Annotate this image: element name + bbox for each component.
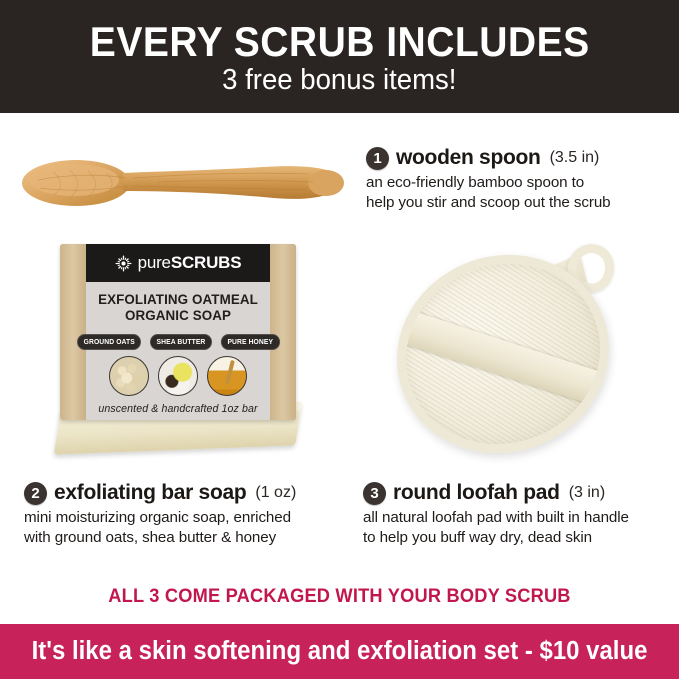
soap-wrapper-card: pureSCRUBS EXFOLIATING OATMEAL ORGANIC S… (60, 244, 296, 420)
value-banner-text: It's like a skin softening and exfoliati… (32, 637, 648, 666)
page-subtitle: 3 free bonus items! (222, 65, 456, 97)
mandala-logo-icon (115, 255, 132, 272)
item-3-text-block: 3 round loofah pad (3 in) all natural lo… (363, 481, 679, 548)
item-2-heading: 2 exfoliating bar soap (1 oz) (24, 481, 344, 505)
item-3-title: round loofah pad (393, 481, 560, 505)
soap-label-heading: EXFOLIATING OATMEAL ORGANIC SOAP (86, 292, 270, 325)
brand-name: pureSCRUBS (138, 253, 242, 273)
item-1-title: wooden spoon (396, 146, 541, 170)
item-2-description-line-2: with ground oats, shea butter & honey (24, 528, 344, 548)
brand-bar: pureSCRUBS (86, 244, 270, 282)
ingredient-pill-shea-butter: SHEA BUTTER (150, 334, 212, 350)
item-3-number-badge: 3 (363, 482, 386, 505)
item-3-heading: 3 round loofah pad (3 in) (363, 481, 679, 505)
bar-soap-image: pureSCRUBS EXFOLIATING OATMEAL ORGANIC S… (52, 238, 308, 456)
item-1-text-block: 1 wooden spoon (3.5 in) an eco-friendly … (366, 146, 672, 213)
kraft-band-left (60, 244, 86, 420)
item-1-size: (3.5 in) (550, 149, 600, 167)
item-1-heading: 1 wooden spoon (3.5 in) (366, 146, 672, 170)
value-banner: It's like a skin softening and exfoliati… (0, 624, 679, 679)
item-3-description-line-2: to help you buff way dry, dead skin (363, 528, 679, 548)
ground-oats-photo (109, 356, 149, 396)
item-3-size: (3 in) (569, 484, 605, 502)
page-title: EVERY SCRUB INCLUDES (90, 20, 590, 63)
item-2-text-block: 2 exfoliating bar soap (1 oz) mini moist… (24, 481, 344, 548)
soap-label-face: pureSCRUBS EXFOLIATING OATMEAL ORGANIC S… (86, 244, 270, 420)
item-1-description-line-2: help you stir and scoop out the scrub (366, 193, 672, 213)
header-banner: EVERY SCRUB INCLUDES 3 free bonus items! (0, 0, 679, 113)
brand-name-suffix: SCRUBS (171, 253, 242, 272)
kraft-band-right (270, 244, 296, 420)
wooden-spoon-image (8, 140, 348, 226)
soap-label-heading-line-1: EXFOLIATING OATMEAL (90, 292, 266, 308)
ingredient-pill-pure-honey: PURE HONEY (221, 334, 280, 350)
soap-label-heading-line-2: ORGANIC SOAP (90, 308, 266, 324)
pure-honey-photo (207, 356, 247, 396)
item-2-size: (1 oz) (255, 484, 296, 502)
ingredient-pill-row: GROUND OATS SHEA BUTTER PURE HONEY (86, 334, 270, 350)
item-2-number-badge: 2 (24, 482, 47, 505)
shea-butter-photo (158, 356, 198, 396)
item-3-description-line-1: all natural loofah pad with built in han… (363, 508, 679, 528)
item-1-number-badge: 1 (366, 147, 389, 170)
item-1-description-line-1: an eco-friendly bamboo spoon to (366, 173, 672, 193)
wooden-spoon-icon (8, 140, 348, 226)
soap-label-footer: unscented & handcrafted 1oz bar (86, 403, 270, 415)
ingredient-pill-ground-oats: GROUND OATS (77, 334, 141, 350)
loofah-pad-image (388, 238, 658, 460)
packaging-note: ALL 3 COME PACKAGED WITH YOUR BODY SCRUB (14, 586, 666, 608)
ingredient-photo-row (86, 356, 270, 396)
item-2-description-line-1: mini moisturizing organic soap, enriched (24, 508, 344, 528)
brand-name-prefix: pure (138, 253, 171, 272)
item-2-title: exfoliating bar soap (54, 481, 246, 505)
